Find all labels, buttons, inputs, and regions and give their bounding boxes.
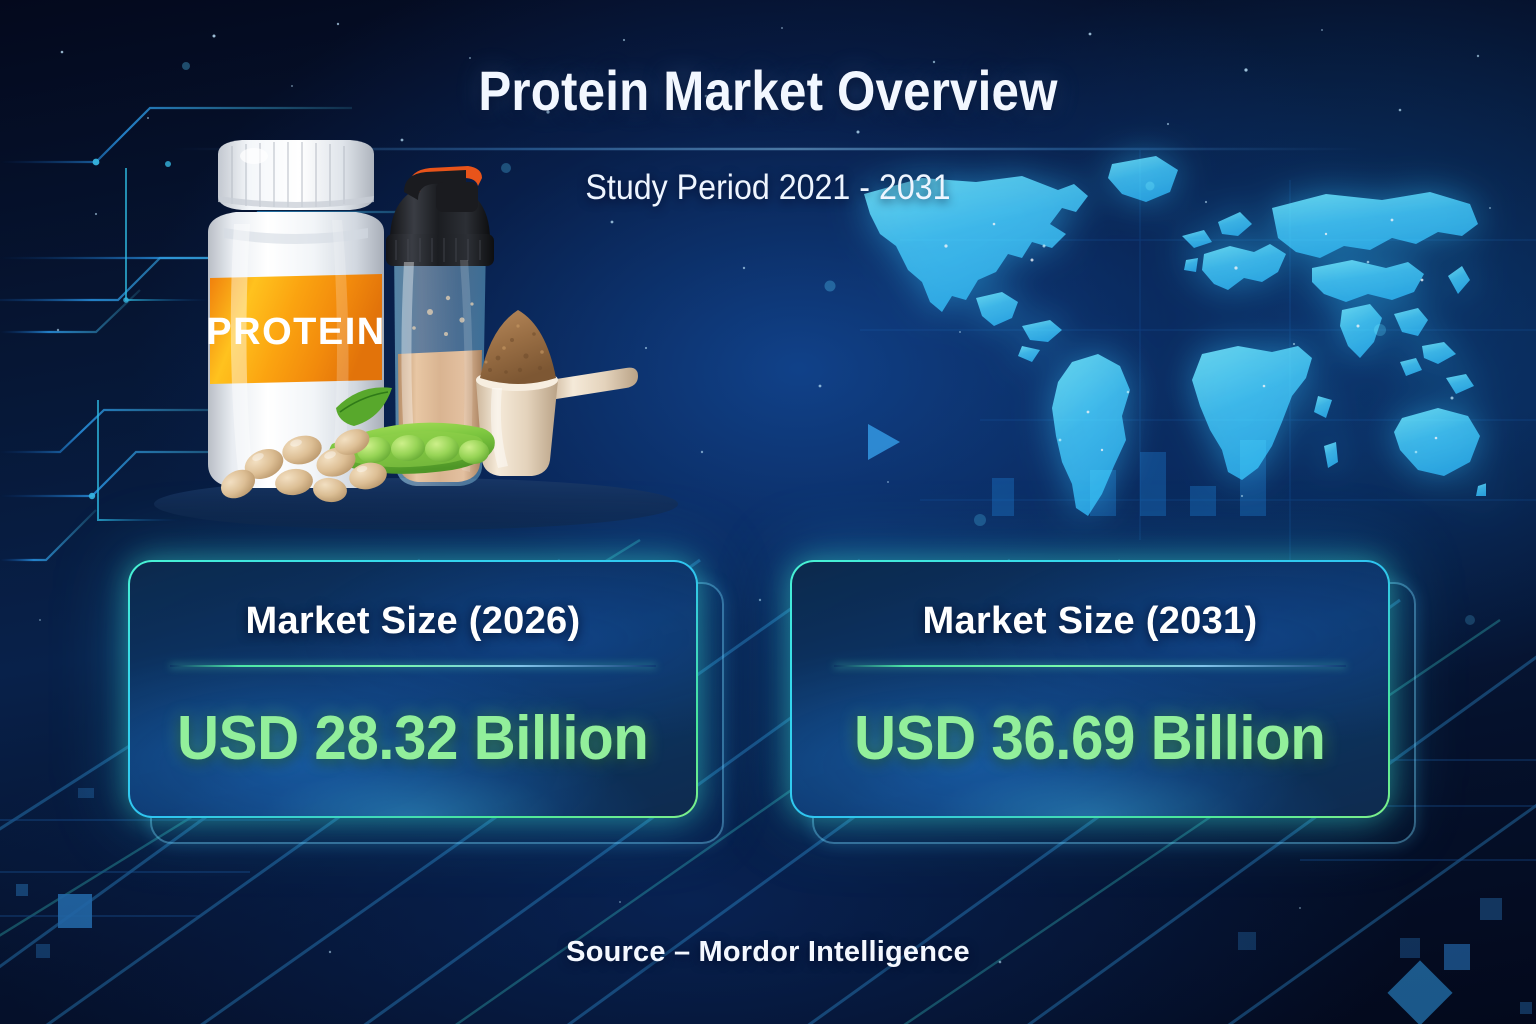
infographic-canvas: Protein Market Overview Study Period 202… bbox=[0, 0, 1536, 1024]
stat-card-2031-border: Market Size (2031) USD 36.69 Billion bbox=[790, 560, 1390, 818]
world-map-graphic bbox=[826, 150, 1486, 550]
stat-card-2031-divider bbox=[834, 665, 1347, 667]
stat-card-2026-value: USD 28.32 Billion bbox=[177, 703, 648, 774]
stat-card-2026[interactable]: Market Size (2026) USD 28.32 Billion bbox=[128, 560, 698, 818]
protein-product-image: PROTEIN bbox=[146, 112, 686, 532]
stat-card-2031-value: USD 36.69 Billion bbox=[854, 703, 1325, 774]
stat-card-2031[interactable]: Market Size (2031) USD 36.69 Billion bbox=[790, 560, 1390, 818]
stat-card-2026-border: Market Size (2026) USD 28.32 Billion bbox=[128, 560, 698, 818]
stat-card-2026-divider bbox=[170, 665, 657, 667]
source-attribution: Source – Mordor Intelligence bbox=[0, 936, 1536, 969]
stat-card-2026-label: Market Size (2026) bbox=[246, 600, 581, 643]
stat-card-2031-label: Market Size (2031) bbox=[923, 600, 1258, 643]
